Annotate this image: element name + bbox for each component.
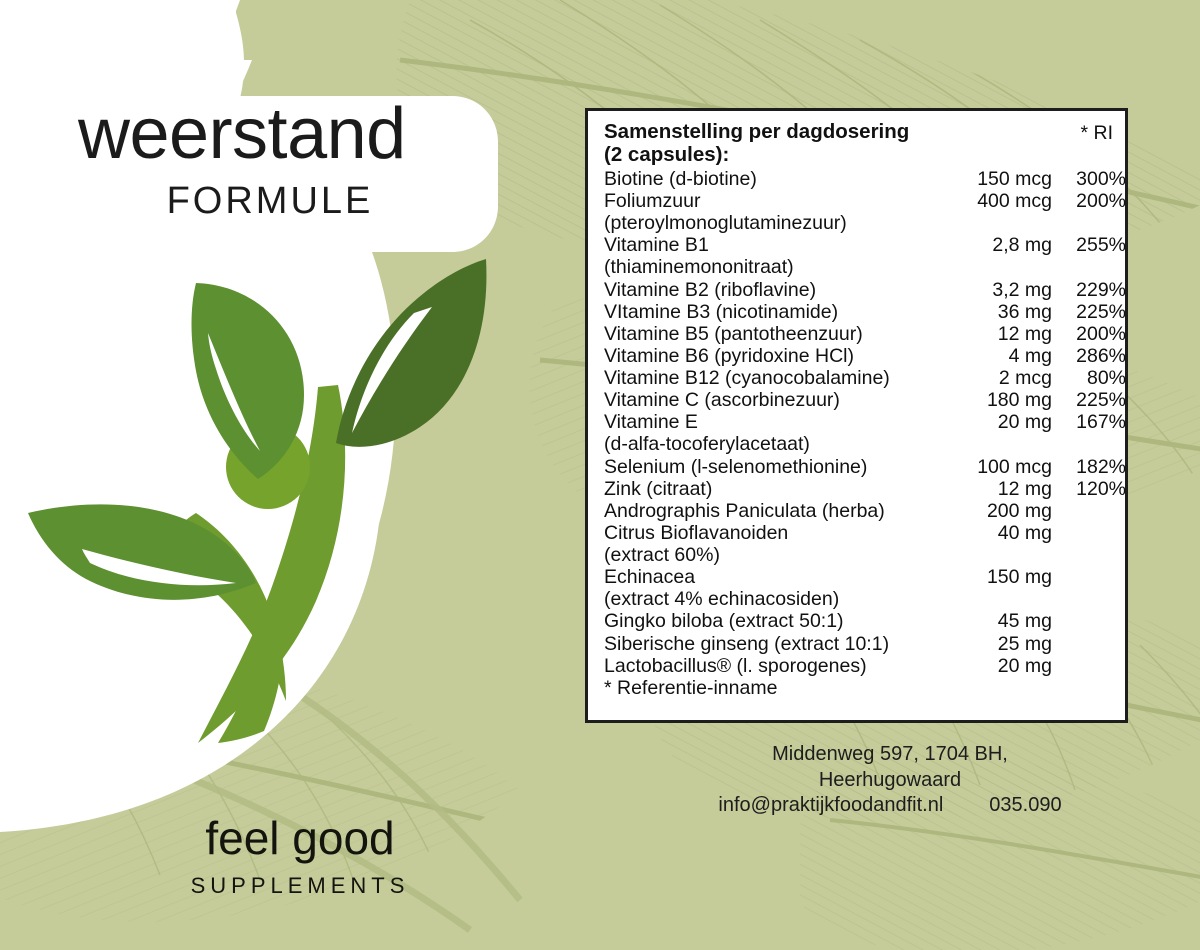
ingredient-amount: 150 mg — [934, 566, 1052, 588]
ingredient-amount: 4 mg — [934, 345, 1052, 367]
ingredient-row: Gingko biloba (extract 50:1)45 mg — [604, 610, 1126, 632]
panel-footnote: * Referentie-inname — [604, 677, 1113, 699]
address-line-2: Heerhugowaard — [640, 768, 1140, 794]
ingredient-amount-spacer — [934, 433, 1052, 455]
ingredient-ri — [1052, 655, 1126, 677]
ingredient-ri — [1052, 522, 1126, 544]
ingredient-continuation: (d-alfa-tocoferylacetaat) — [604, 433, 934, 455]
ingredient-name: Andrographis Paniculata (herba) — [604, 500, 934, 522]
address-line-1: Middenweg 597, 1704 BH, — [640, 742, 1140, 768]
ingredient-name: Gingko biloba (extract 50:1) — [604, 610, 934, 632]
ingredient-name: Selenium (l-selenomethionine) — [604, 456, 934, 478]
ri-column-header: * RI — [1080, 121, 1113, 145]
panel-header: Samenstelling per dagdosering (2 capsule… — [604, 121, 1113, 167]
ingredient-ri: 286% — [1052, 345, 1126, 367]
ingredient-row: Zink (citraat)12 mg120% — [604, 478, 1126, 500]
logo-leaf-left — [28, 504, 256, 599]
ingredient-name: Vitamine B5 (pantotheenzuur) — [604, 323, 934, 345]
ingredient-ri — [1052, 566, 1126, 588]
supplement-label: weerstand FORMULE Samenstelling per dagd… — [0, 0, 1200, 950]
ingredient-ri: 167% — [1052, 411, 1126, 433]
feel-good-logo-mark — [20, 245, 520, 745]
ingredient-amount: 150 mcg — [934, 168, 1052, 190]
ingredient-amount-spacer — [934, 256, 1052, 278]
ingredient-continuation: (pteroylmonoglutaminezuur) — [604, 212, 934, 234]
batch-code: 035.090 — [989, 794, 1061, 817]
ingredient-ri: 229% — [1052, 279, 1126, 301]
logo-leaf-top — [192, 283, 305, 479]
ingredient-name: Echinacea — [604, 566, 934, 588]
ingredient-row: Vitamine B2 (riboflavine)3,2 mg229% — [604, 279, 1126, 301]
ingredient-row: Andrographis Paniculata (herba)200 mg — [604, 500, 1126, 522]
ingredient-continuation-row: (pteroylmonoglutaminezuur) — [604, 212, 1126, 234]
ingredient-ri-spacer — [1052, 256, 1126, 278]
ingredient-ri: 182% — [1052, 456, 1126, 478]
ingredient-continuation-row: (thiaminemononitraat) — [604, 256, 1126, 278]
ingredient-row: Vitamine B12 (cyanocobalamine)2 mcg80% — [604, 367, 1126, 389]
ingredient-amount: 3,2 mg — [934, 279, 1052, 301]
brand-name: feel good — [140, 815, 460, 861]
panel-title-line1: Samenstelling per dagdosering — [604, 121, 909, 144]
ingredient-amount: 20 mg — [934, 655, 1052, 677]
ingredient-name: Citrus Bioflavanoiden — [604, 522, 934, 544]
ingredient-name: Vitamine C (ascorbinezuur) — [604, 389, 934, 411]
brand-lockup: feel good SUPPLEMENTS — [140, 815, 460, 897]
ingredient-amount: 36 mg — [934, 301, 1052, 323]
product-name: weerstand — [78, 98, 498, 170]
ingredient-ri — [1052, 610, 1126, 632]
ingredient-row: Vitamine B12,8 mg255% — [604, 234, 1126, 256]
ingredient-name: Zink (citraat) — [604, 478, 934, 500]
ingredient-amount: 400 mcg — [934, 190, 1052, 212]
ingredient-amount: 12 mg — [934, 478, 1052, 500]
supplement-facts-panel: Samenstelling per dagdosering (2 capsule… — [585, 108, 1128, 723]
ingredient-amount-spacer — [934, 212, 1052, 234]
ingredient-row: Selenium (l-selenomethionine)100 mcg182% — [604, 456, 1126, 478]
ingredient-amount: 180 mg — [934, 389, 1052, 411]
panel-title-line2: (2 capsules): — [604, 144, 909, 167]
ingredients-table: Biotine (d-biotine)150 mcg300%Foliumzuur… — [604, 168, 1126, 677]
ingredient-amount: 45 mg — [934, 610, 1052, 632]
ingredient-amount: 2,8 mg — [934, 234, 1052, 256]
ingredient-ri: 300% — [1052, 168, 1126, 190]
panel-title: Samenstelling per dagdosering (2 capsule… — [604, 121, 909, 167]
ingredient-row: Vitamine E20 mg167% — [604, 411, 1126, 433]
ingredient-row: Lactobacillus® (l. sporogenes)20 mg — [604, 655, 1126, 677]
ingredient-continuation: (thiaminemononitraat) — [604, 256, 934, 278]
ingredient-row: Citrus Bioflavanoiden40 mg — [604, 522, 1126, 544]
ingredient-row: Vitamine C (ascorbinezuur)180 mg225% — [604, 389, 1126, 411]
product-subtitle: FORMULE — [78, 182, 498, 220]
ingredient-name: Biotine (d-biotine) — [604, 168, 934, 190]
ingredient-name: Vitamine B12 (cyanocobalamine) — [604, 367, 934, 389]
ingredient-amount: 25 mg — [934, 633, 1052, 655]
ingredient-amount-spacer — [934, 588, 1052, 610]
ingredient-continuation: (extract 4% echinacosiden) — [604, 588, 934, 610]
brand-tagline: SUPPLEMENTS — [140, 875, 460, 897]
ingredient-ri: 80% — [1052, 367, 1126, 389]
contact-email: info@praktijkfoodandfit.nl — [718, 793, 943, 819]
ingredient-ri: 200% — [1052, 323, 1126, 345]
ingredient-name: VItamine B3 (nicotinamide) — [604, 301, 934, 323]
ingredient-ri: 120% — [1052, 478, 1126, 500]
ingredient-row: VItamine B3 (nicotinamide)36 mg225% — [604, 301, 1126, 323]
ingredient-name: Siberische ginseng (extract 10:1) — [604, 633, 934, 655]
address-block: Middenweg 597, 1704 BH, Heerhugowaard in… — [640, 742, 1140, 819]
ingredient-ri — [1052, 500, 1126, 522]
ingredient-row: Biotine (d-biotine)150 mcg300% — [604, 168, 1126, 190]
ingredient-ri — [1052, 633, 1126, 655]
logo-leaf-right — [336, 259, 486, 447]
ingredients-tbody: Biotine (d-biotine)150 mcg300%Foliumzuur… — [604, 168, 1126, 677]
ingredient-continuation-row: (extract 60%) — [604, 544, 1126, 566]
ingredient-name: Foliumzuur — [604, 190, 934, 212]
ingredient-amount: 100 mcg — [934, 456, 1052, 478]
ingredient-ri: 225% — [1052, 301, 1126, 323]
ingredient-name: Vitamine B1 — [604, 234, 934, 256]
ingredient-ri: 255% — [1052, 234, 1126, 256]
ingredient-ri: 200% — [1052, 190, 1126, 212]
ingredient-ri-spacer — [1052, 544, 1126, 566]
ingredient-row: Siberische ginseng (extract 10:1)25 mg — [604, 633, 1126, 655]
ingredient-continuation: (extract 60%) — [604, 544, 934, 566]
ingredient-name: Vitamine E — [604, 411, 934, 433]
ingredient-continuation-row: (extract 4% echinacosiden) — [604, 588, 1126, 610]
ingredient-amount: 12 mg — [934, 323, 1052, 345]
product-wordmark: weerstand FORMULE — [78, 98, 498, 220]
ingredient-amount: 200 mg — [934, 500, 1052, 522]
ingredient-row: Echinacea150 mg — [604, 566, 1126, 588]
ingredient-ri-spacer — [1052, 433, 1126, 455]
ingredient-amount: 2 mcg — [934, 367, 1052, 389]
ingredient-continuation-row: (d-alfa-tocoferylacetaat) — [604, 433, 1126, 455]
ingredient-row: Vitamine B6 (pyridoxine HCl)4 mg286% — [604, 345, 1126, 367]
ingredient-ri-spacer — [1052, 588, 1126, 610]
ingredient-amount: 20 mg — [934, 411, 1052, 433]
ingredient-name: Vitamine B6 (pyridoxine HCl) — [604, 345, 934, 367]
ingredient-amount: 40 mg — [934, 522, 1052, 544]
ingredient-amount-spacer — [934, 544, 1052, 566]
contact-row: info@praktijkfoodandfit.nl 035.090 — [640, 793, 1140, 819]
ingredient-row: Vitamine B5 (pantotheenzuur)12 mg200% — [604, 323, 1126, 345]
ingredient-row: Foliumzuur400 mcg200% — [604, 190, 1126, 212]
ingredient-ri: 225% — [1052, 389, 1126, 411]
ingredient-name: Vitamine B2 (riboflavine) — [604, 279, 934, 301]
ingredient-ri-spacer — [1052, 212, 1126, 234]
ingredient-name: Lactobacillus® (l. sporogenes) — [604, 655, 934, 677]
